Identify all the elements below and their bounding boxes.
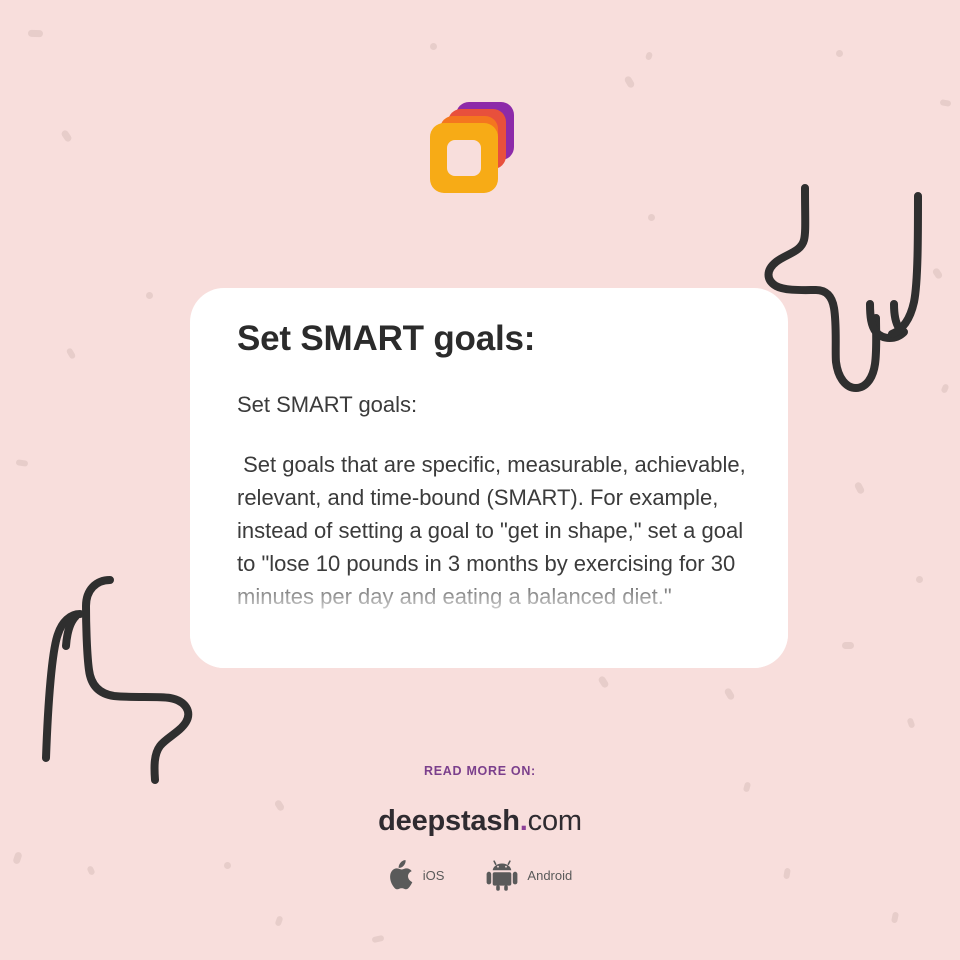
android-icon [486, 860, 518, 891]
confetti-speck [274, 915, 283, 926]
read-more-label: READ MORE ON: [0, 764, 960, 778]
confetti-speck [645, 51, 653, 61]
confetti-speck [916, 576, 923, 583]
android-store-link[interactable]: Android [486, 860, 572, 891]
confetti-speck [430, 43, 437, 50]
confetti-speck [854, 481, 866, 495]
ios-label: iOS [423, 868, 445, 883]
ios-store-link[interactable]: iOS [388, 860, 445, 891]
confetti-speck [66, 347, 77, 360]
footer: READ MORE ON: deepstash.com iOS [0, 764, 960, 891]
confetti-speck [891, 911, 899, 923]
apple-icon [388, 860, 414, 891]
app-store-links: iOS Android [0, 860, 960, 891]
card-content: Set SMART goals: Set SMART goals: Set go… [237, 319, 756, 613]
android-label: Android [527, 868, 572, 883]
card-subtitle: Set SMART goals: [237, 389, 756, 420]
brand-wordmark[interactable]: deepstash.com [0, 805, 960, 838]
confetti-speck [372, 935, 385, 943]
confetti-speck [940, 383, 949, 394]
share-card-canvas: Set SMART goals: Set SMART goals: Set go… [0, 0, 960, 960]
brand-tld: com [528, 805, 582, 837]
confetti-speck [836, 50, 843, 57]
card-body-text: Set goals that are specific, measurable,… [237, 448, 756, 613]
confetti-speck [648, 214, 655, 221]
confetti-speck [597, 675, 609, 689]
brand-dot: . [520, 805, 528, 837]
confetti-speck [28, 30, 43, 38]
confetti-speck [723, 687, 735, 701]
confetti-speck [842, 642, 854, 649]
logo-inner-cutout [447, 140, 481, 176]
confetti-speck [60, 129, 73, 143]
confetti-speck [16, 459, 29, 467]
confetti-speck [906, 717, 915, 728]
confetti-speck [623, 75, 635, 89]
confetti-speck [146, 292, 153, 299]
idea-card: Set SMART goals: Set SMART goals: Set go… [190, 288, 788, 668]
deepstash-logo [428, 102, 518, 198]
page-title: Set SMART goals: [237, 319, 756, 360]
confetti-speck [940, 99, 952, 107]
brand-name: deepstash [378, 805, 520, 837]
confetti-speck [932, 267, 944, 280]
